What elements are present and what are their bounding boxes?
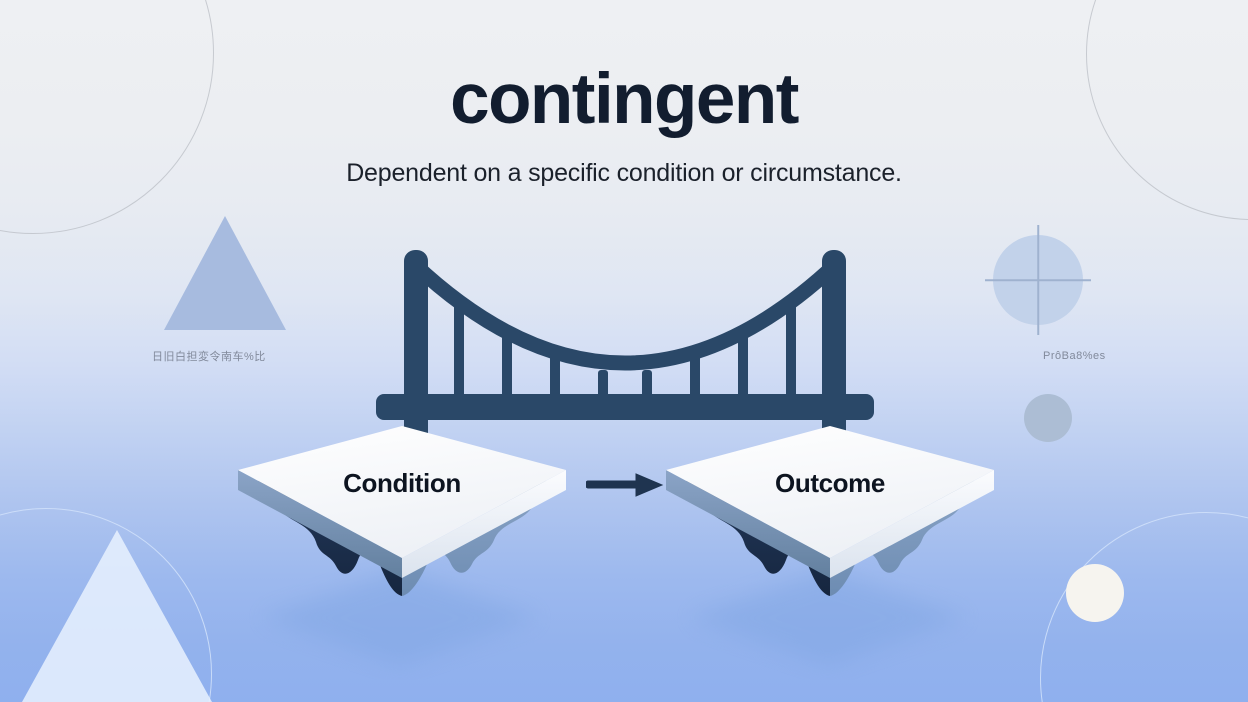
vocabulary-card: 日旧白担変令南车%比 PrôBa8%es contingent Dependen… [0, 0, 1248, 702]
platform-condition-shape [232, 418, 572, 598]
dot-cream-bottom-right-icon [1066, 564, 1124, 622]
word-title: contingent [0, 64, 1248, 135]
ring-bottom-right-icon [1040, 512, 1248, 702]
micro-label-left: 日旧白担変令南车%比 [152, 348, 266, 364]
platform-outcome-shape [660, 418, 1000, 598]
platform-outcome[interactable]: Outcome [660, 418, 1000, 598]
ring-bottom-left-icon [0, 508, 212, 702]
right-arrow-icon [586, 470, 666, 500]
triangle-top-left-icon [164, 216, 286, 330]
micro-label-right: PrôBa8%es [1043, 350, 1106, 362]
circle-crosshair-icon [993, 235, 1083, 325]
word-definition: Dependent on a specific condition or cir… [0, 159, 1248, 188]
dot-mid-right-icon [1024, 394, 1072, 442]
platform-condition[interactable]: Condition [232, 418, 572, 598]
triangle-bottom-left-icon [22, 530, 212, 702]
